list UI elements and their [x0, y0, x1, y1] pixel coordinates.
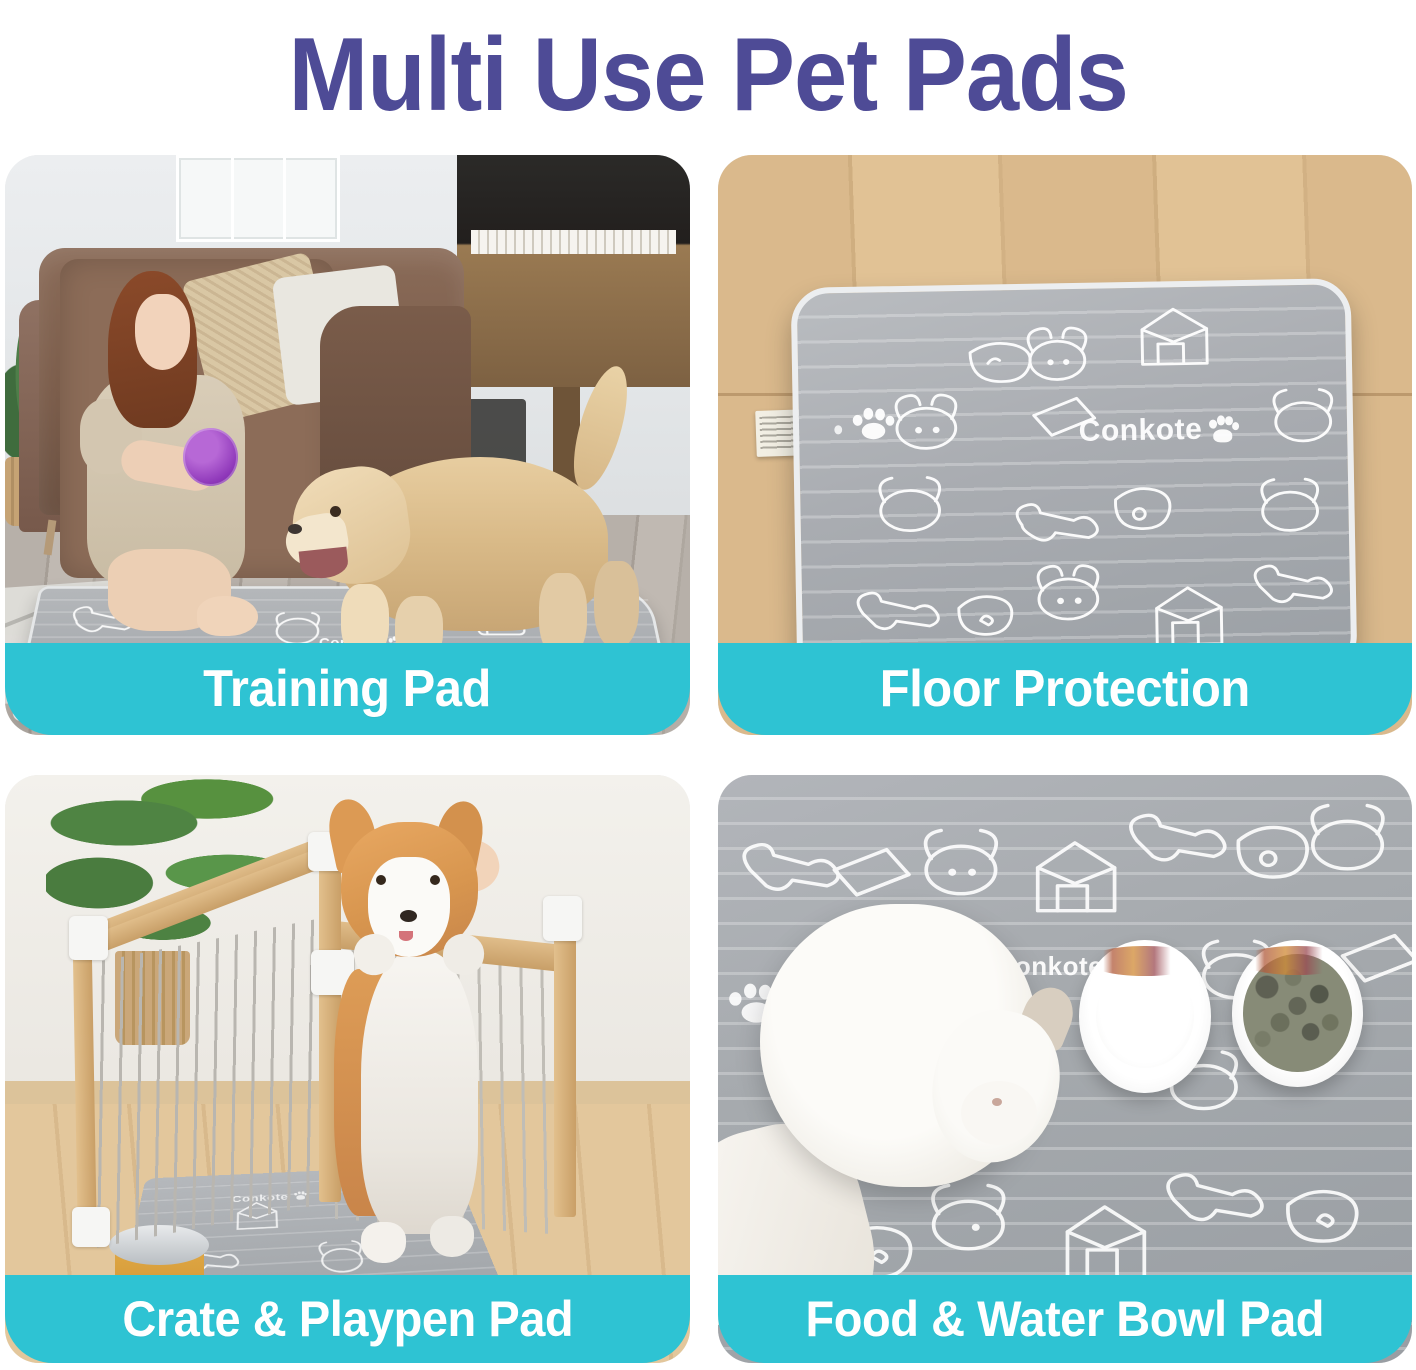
caption-label: Food & Water Bowl Pad: [806, 1294, 1324, 1344]
water-bowl: [1079, 940, 1211, 1093]
girl-face: [135, 294, 190, 369]
playpen-bars-left: [83, 917, 324, 1250]
corgi-nose: [400, 910, 417, 922]
caption-bar-crate-playpen-pad: Crate & Playpen Pad: [5, 1275, 690, 1363]
purple-ball-toy: [183, 428, 238, 486]
dog-nose: [288, 524, 302, 534]
cat-muzzle: [961, 1081, 1037, 1146]
playpen-connector: [69, 916, 107, 960]
girl-foot: [197, 596, 259, 637]
piano: [457, 155, 690, 387]
corgi-foot-left: [361, 1222, 406, 1263]
brand-logo: Conkote: [1079, 412, 1239, 449]
corgi-tongue: [399, 931, 413, 941]
food-bowl: [1232, 940, 1364, 1087]
milk-contents: [1096, 964, 1194, 1068]
page-header: Multi Use Pet Pads: [0, 0, 1416, 150]
brand-name: Conkote: [1079, 413, 1203, 449]
panel-grid: Conkote Trainin: [5, 155, 1412, 1363]
bowl-rim-print: [1239, 946, 1355, 975]
panel-floor-protection[interactable]: Conkote Floor Protection: [718, 155, 1412, 735]
paw-print-icon: [1208, 414, 1239, 445]
dog-hind-leg-right: [594, 561, 639, 648]
panel-training-pad[interactable]: Conkote Trainin: [5, 155, 690, 735]
caption-label: Training Pad: [204, 663, 492, 715]
panel-crate-playpen-pad[interactable]: Conkote: [5, 775, 690, 1363]
caption-label: Floor Protection: [880, 663, 1250, 715]
playpen-connector: [72, 1207, 110, 1247]
pad-icon-print: [797, 284, 1352, 676]
page-title: Multi Use Pet Pads: [288, 23, 1127, 127]
piano-keys-icon: [471, 230, 677, 253]
window: [176, 155, 340, 242]
corgi-eye-right: [430, 875, 440, 885]
bowl-rim-print: [1087, 946, 1203, 977]
caption-label: Crate & Playpen Pad: [122, 1294, 573, 1344]
pet-pad: Conkote: [791, 278, 1358, 683]
caption-bar-food-water-bowl-pad: Food & Water Bowl Pad: [718, 1275, 1412, 1363]
playpen-post-right: [554, 911, 576, 1217]
corgi-foot-right: [430, 1216, 475, 1257]
corgi-chest: [361, 951, 477, 1233]
caption-bar-floor-protection: Floor Protection: [718, 643, 1412, 735]
panel-food-water-bowl-pad[interactable]: Conkote Conkote Food: [718, 775, 1412, 1363]
caption-bar-training-pad: Training Pad: [5, 643, 690, 735]
